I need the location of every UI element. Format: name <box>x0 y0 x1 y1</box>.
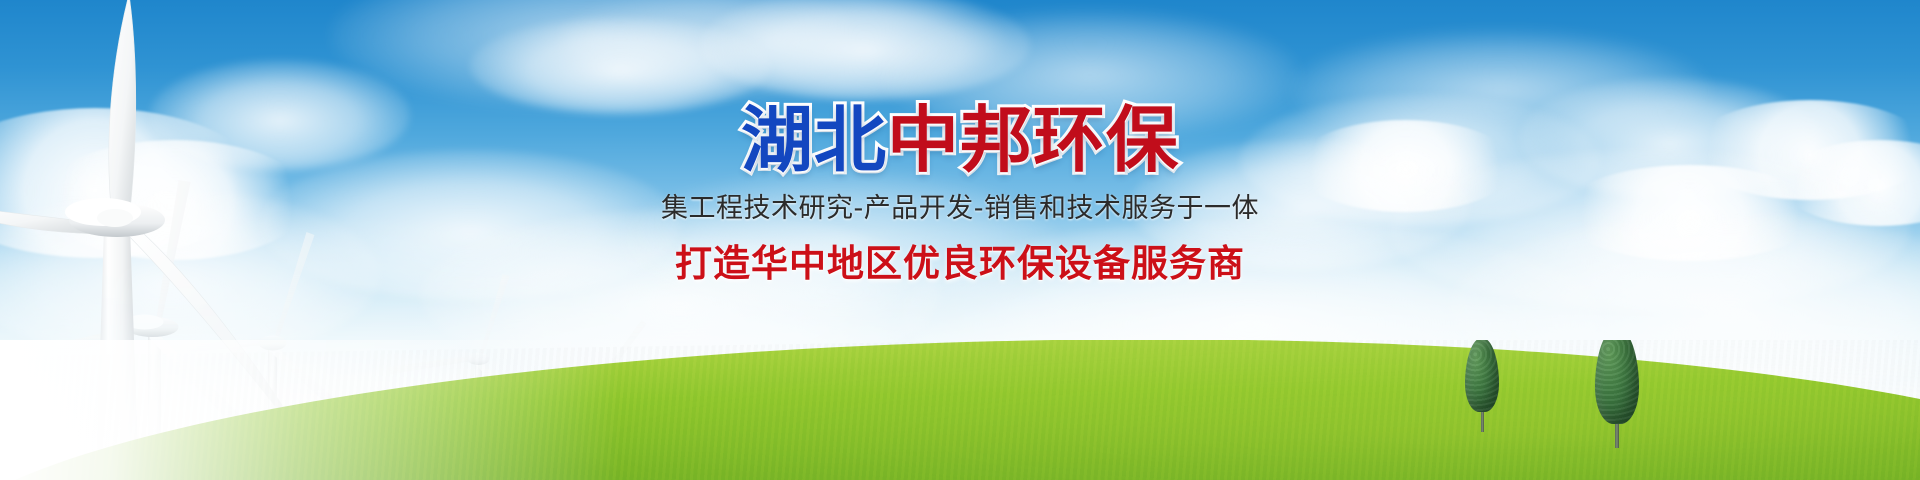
hero-banner: 湖北中邦环保 集工程技术研究-产品开发-销售和技术服务于一体 打造华中地区优良环… <box>0 0 1920 480</box>
green-grass-hill <box>0 340 1920 480</box>
tree-crown <box>1595 340 1639 424</box>
cypress-tree <box>1595 340 1639 440</box>
cypress-tree <box>1465 340 1499 424</box>
tree-trunk <box>1615 424 1619 448</box>
tree-crown <box>1465 340 1499 412</box>
grass-left-fade <box>0 340 620 480</box>
tree-trunk <box>1481 412 1484 432</box>
